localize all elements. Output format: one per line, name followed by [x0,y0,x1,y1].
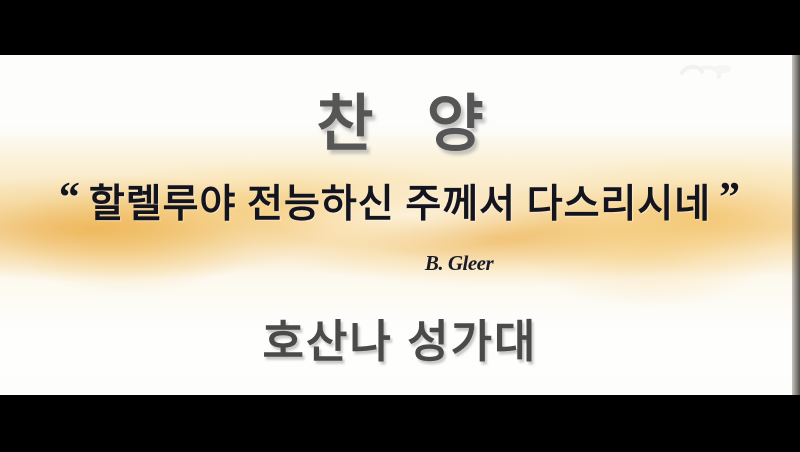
letterbox-bar-bottom [0,395,800,452]
letterbox-bar-top [0,0,800,55]
open-quote-mark: “ [54,175,86,221]
choir-name: 호산나 성가대 [0,305,800,370]
letterbox-edge-right [792,55,800,395]
hymn-quote-line: “할렐루야 전능하신 주께서 다스리시네” [0,173,800,229]
close-quote-mark: ” [714,175,746,221]
praise-slide: 찬 양 “할렐루야 전능하신 주께서 다스리시네” B. Gleer 호산나 성… [0,55,800,395]
composer-credit: B. Gleer [0,251,800,276]
hymn-quote-text: 할렐루야 전능하신 주께서 다스리시네 [86,183,714,226]
page-title: 찬 양 [0,73,800,163]
video-frame: 찬 양 “할렐루야 전능하신 주께서 다스리시네” B. Gleer 호산나 성… [0,0,800,452]
